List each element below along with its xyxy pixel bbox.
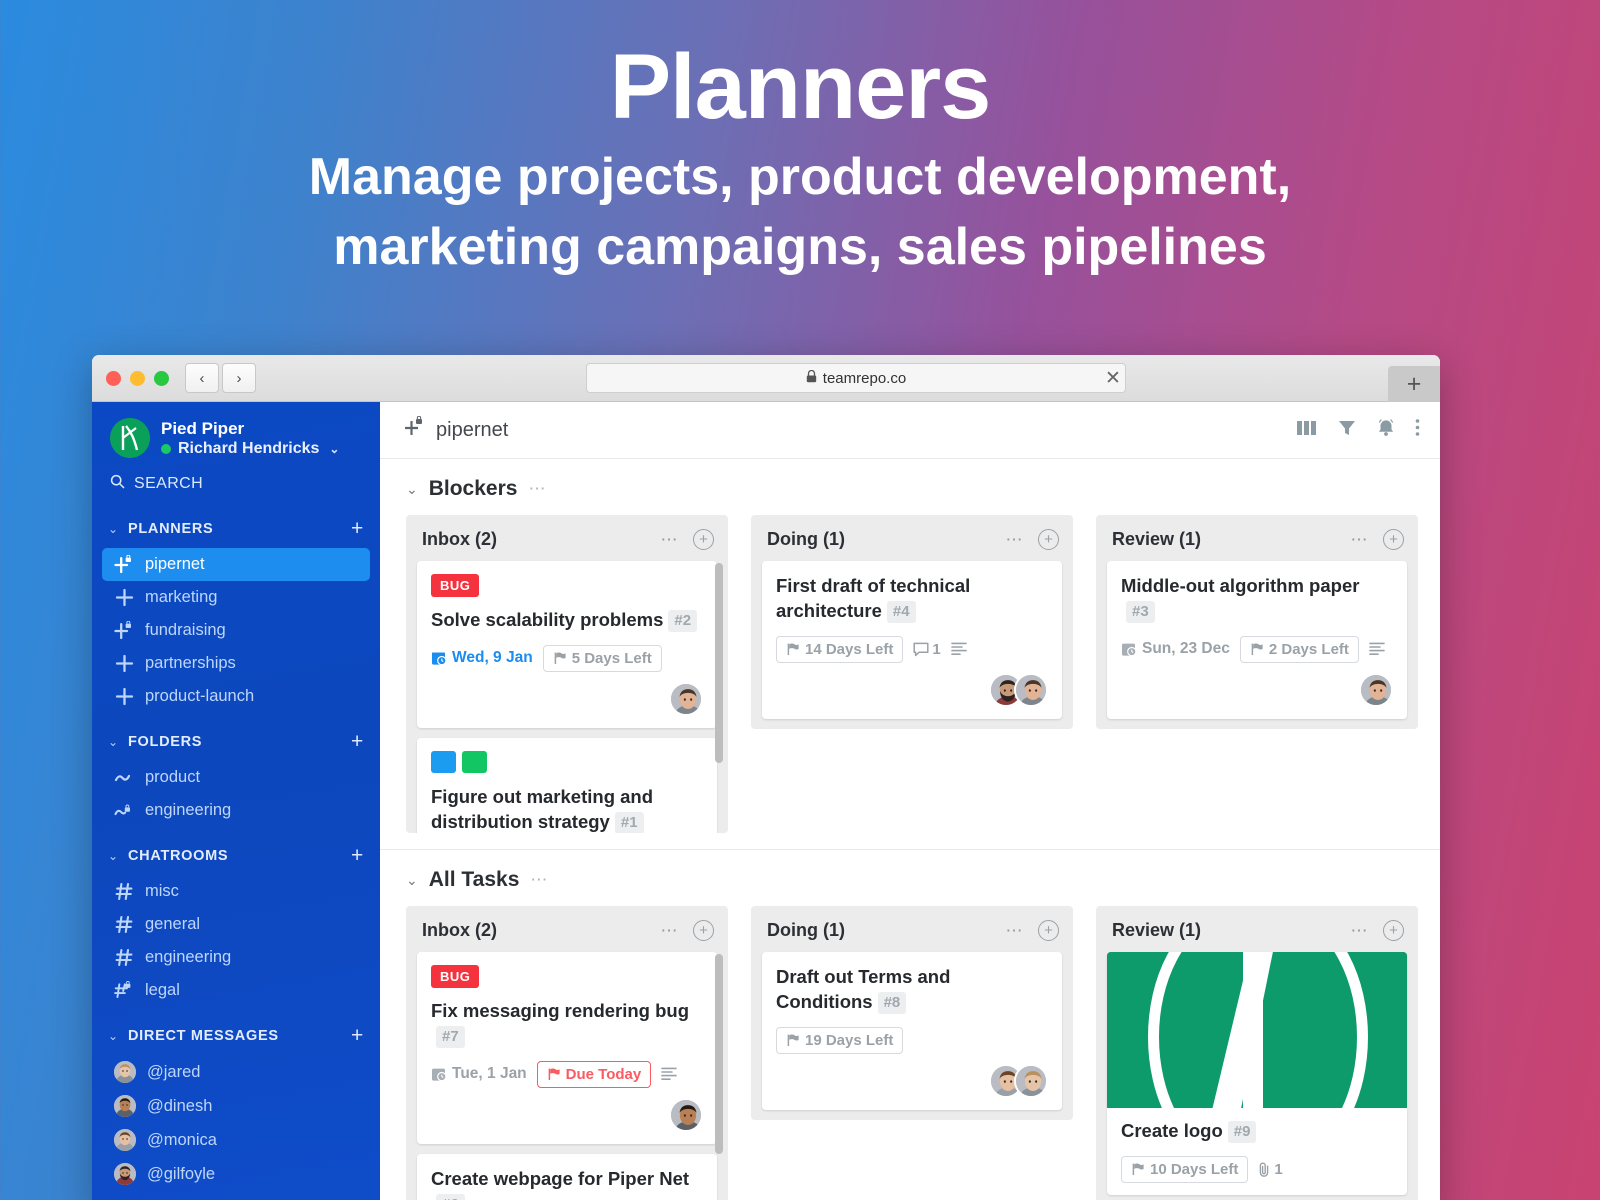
board-column: Doing (1) ⋯ +First draft of technical ar…: [751, 515, 1073, 729]
sidebar-section-folders[interactable]: ⌄FOLDERS+: [92, 713, 380, 761]
sidebar-item-partnerships[interactable]: partnerships: [92, 647, 380, 680]
avatar: [114, 1061, 136, 1083]
section-title: DIRECT MESSAGES: [128, 1028, 279, 1044]
add-card-button[interactable]: +: [1383, 529, 1404, 550]
chevron-down-icon[interactable]: ⌄: [329, 442, 339, 456]
avatar: [114, 1163, 136, 1185]
sidebar-item-marketing[interactable]: marketing: [92, 581, 380, 614]
task-card[interactable]: BUGFix messaging rendering bug#7Tue, 1 J…: [417, 952, 717, 1144]
board-column: Inbox (2) ⋯ +BUGSolve scalability proble…: [406, 515, 728, 833]
sidebar-item-label: misc: [145, 882, 179, 901]
user-name: Richard Hendricks: [178, 440, 319, 458]
planner-lock-icon: [402, 416, 424, 444]
hero-subtitle-line-1: Manage projects, product development,: [0, 142, 1600, 212]
days-left-badge: 14 Days Left: [776, 636, 903, 663]
card-meta: 14 Days Left1: [776, 636, 1048, 663]
card-title: Draft out Terms and Conditions#8: [776, 965, 1048, 1015]
workspace-name: Pied Piper: [161, 418, 339, 439]
board-group-all-tasks: ⌄ All Tasks ⋯Inbox (2) ⋯ +BUGFix messagi…: [380, 850, 1440, 1200]
planner-icon: [114, 654, 134, 673]
column-header: Review (1) ⋯ +: [1096, 906, 1418, 952]
card-meta: 10 Days Left1: [1121, 1156, 1393, 1183]
avatar: [114, 1095, 136, 1117]
card-assignees: [431, 1098, 703, 1132]
sidebar-item-jared[interactable]: @jared: [92, 1055, 380, 1089]
description-icon: [661, 1067, 677, 1081]
column-list: Inbox (2) ⋯ +BUGFix messaging rendering …: [380, 906, 1440, 1200]
card-title-text: First draft of technical architecture: [776, 575, 970, 621]
browser-window: ‹ › teamrepo.co ✕ +: [92, 355, 1440, 1200]
card-meta: Sun, 23 Dec2 Days Left: [1121, 636, 1393, 663]
sidebar-item-engineering[interactable]: engineering: [92, 941, 380, 974]
planner-icon: [114, 588, 134, 607]
group-header[interactable]: ⌄ Blockers ⋯: [380, 459, 1440, 515]
sidebar-item-label: marketing: [145, 588, 217, 607]
card-number: #1: [615, 812, 644, 833]
card-list: Middle-out algorithm paper#3Sun, 23 Dec2…: [1096, 561, 1418, 719]
card-list: Draft out Terms and Conditions#819 Days …: [751, 952, 1073, 1110]
task-card[interactable]: First draft of technical architecture#41…: [762, 561, 1062, 719]
sidebar-item-label: @jared: [147, 1063, 200, 1082]
card-title: Fix messaging rendering bug#7: [431, 999, 703, 1049]
bell-icon[interactable]: [1376, 417, 1396, 443]
pied-piper-logo-icon: [110, 418, 150, 458]
card-meta: Wed, 9 Jan5 Days Left: [431, 645, 703, 672]
days-left-text: 19 Days Left: [805, 1032, 893, 1049]
column-more-icon[interactable]: ⋯: [1006, 921, 1025, 941]
column-more-icon[interactable]: ⋯: [661, 921, 680, 941]
card-title-text: Create logo: [1121, 1120, 1223, 1141]
sidebar-item-product[interactable]: product: [92, 761, 380, 794]
planner-lock-icon: [114, 621, 134, 640]
days-left-badge: 5 Days Left: [543, 645, 662, 672]
planner-icon: [114, 687, 134, 706]
column-header: Doing (1) ⋯ +: [751, 515, 1073, 561]
sidebar-item-label: engineering: [145, 801, 231, 820]
card-list: Create logo#910 Days Left1: [1096, 952, 1418, 1195]
current-user[interactable]: Richard Hendricks ⌄: [161, 440, 339, 458]
attachment-count-text: 1: [1274, 1161, 1282, 1178]
task-card[interactable]: Create logo#910 Days Left1: [1107, 952, 1407, 1195]
description-icon: [1369, 642, 1385, 656]
card-assignees: [776, 673, 1048, 707]
card-number: #9: [1228, 1121, 1257, 1143]
label-swatch[interactable]: [431, 751, 456, 773]
comment-count-text: 1: [932, 641, 940, 658]
card-list: First draft of technical architecture#41…: [751, 561, 1073, 719]
sidebar-item-dinesh[interactable]: @dinesh: [92, 1089, 380, 1123]
board-column: Doing (1) ⋯ +Draft out Terms and Conditi…: [751, 906, 1073, 1120]
chevron-down-icon[interactable]: ⌄: [406, 872, 418, 889]
days-left-text: Due Today: [566, 1066, 642, 1083]
column-scrollbar[interactable]: [715, 954, 723, 1154]
card-meta: 19 Days Left: [776, 1027, 1048, 1054]
sidebar-item-fundraising[interactable]: fundraising: [92, 614, 380, 647]
card-due-date: Tue, 1 Jan: [431, 1065, 527, 1083]
card-title: Solve scalability problems#2: [431, 608, 703, 633]
description-icon: [951, 642, 967, 656]
avatar[interactable]: [669, 682, 703, 716]
card-number: #7: [436, 1026, 465, 1048]
section-title: PLANNERS: [128, 521, 213, 537]
column-title: Inbox (2): [422, 920, 497, 941]
page-title: Planners: [0, 42, 1600, 132]
add-card-button[interactable]: +: [1383, 920, 1404, 941]
hero-banner: Planners Manage projects, product develo…: [0, 0, 1600, 283]
add-folders-button[interactable]: +: [351, 730, 364, 754]
column-header: Inbox (2) ⋯ +: [406, 515, 728, 561]
avatar: [114, 1129, 136, 1151]
sidebar-section-chatrooms[interactable]: ⌄CHATROOMS+: [92, 827, 380, 875]
card-title: Middle-out algorithm paper#3: [1121, 574, 1393, 624]
search-button[interactable]: SEARCH: [92, 458, 380, 500]
task-card[interactable]: Figure out marketing and distribution st…: [417, 738, 717, 833]
sidebar-item-label: fundraising: [145, 621, 226, 640]
group-more-icon[interactable]: ⋯: [530, 870, 548, 890]
avatar[interactable]: [1014, 1064, 1048, 1098]
minimize-window-button[interactable]: [130, 371, 145, 386]
planner-title: pipernet: [402, 416, 508, 444]
card-list: BUGFix messaging rendering bug#7Tue, 1 J…: [406, 952, 728, 1200]
column-header: Inbox (2) ⋯ +: [406, 906, 728, 952]
hash-icon: [114, 915, 134, 934]
chevron-down-icon[interactable]: ⌄: [108, 1029, 128, 1043]
due-date-text: Sun, 23 Dec: [1142, 640, 1230, 658]
board-column: Review (1) ⋯ +Middle-out algorithm paper…: [1096, 515, 1418, 729]
lock-icon: [806, 370, 817, 386]
days-left-badge: 19 Days Left: [776, 1027, 903, 1054]
planner-lock-icon: [114, 555, 134, 574]
board-group-blockers: ⌄ Blockers ⋯Inbox (2) ⋯ +BUGSolve scalab…: [380, 459, 1440, 833]
comment-count: 1: [913, 641, 940, 658]
planner-toolbar: pipernet: [380, 402, 1440, 459]
card-title-text: Solve scalability problems: [431, 609, 663, 630]
sidebar-item-label: pipernet: [145, 555, 205, 574]
chevron-down-icon[interactable]: ⌄: [108, 522, 128, 536]
group-title: Blockers: [429, 477, 518, 501]
address-bar[interactable]: teamrepo.co: [586, 363, 1126, 393]
card-title-text: Create webpage for Piper Net: [431, 1168, 689, 1189]
sidebar-item-label: partnerships: [145, 654, 236, 673]
sidebar-item-pipernet[interactable]: pipernet: [102, 548, 370, 581]
planner-name: pipernet: [436, 419, 508, 442]
hash-icon: [114, 948, 134, 967]
column-header: Doing (1) ⋯ +: [751, 906, 1073, 952]
group-header[interactable]: ⌄ All Tasks ⋯: [380, 850, 1440, 906]
card-title-text: Draft out Terms and Conditions: [776, 966, 950, 1012]
card-assignees: [776, 1064, 1048, 1098]
sidebar-item-label: legal: [145, 981, 180, 1000]
column-scrollbar[interactable]: [715, 563, 723, 763]
board-column: Inbox (2) ⋯ +BUGFix messaging rendering …: [406, 906, 728, 1200]
task-card[interactable]: BUGSolve scalability problems#2Wed, 9 Ja…: [417, 561, 717, 728]
card-number: #3: [1126, 601, 1155, 623]
window-controls[interactable]: [106, 371, 169, 386]
sidebar-item-label: product: [145, 768, 200, 787]
sidebar-item-engineering[interactable]: engineering: [92, 794, 380, 827]
search-label: SEARCH: [134, 475, 203, 493]
add-card-button[interactable]: +: [1038, 920, 1059, 941]
sidebar-section-direct-messages[interactable]: ⌄DIRECT MESSAGES+: [92, 1007, 380, 1055]
card-assignees: [431, 682, 703, 716]
sidebar-item-label: @dinesh: [147, 1097, 212, 1116]
card-due-date: Wed, 9 Jan: [431, 649, 533, 667]
card-image-pied-piper-logo: [1107, 952, 1407, 1108]
status-badge: BUG: [431, 574, 479, 597]
sidebar-item-legal[interactable]: legal: [92, 974, 380, 1007]
card-number: #8: [878, 992, 907, 1014]
sidebar-item-label: product-launch: [145, 687, 254, 706]
days-left-text: 14 Days Left: [805, 641, 893, 658]
new-tab-button[interactable]: +: [1388, 366, 1440, 402]
attachment-count: 1: [1258, 1161, 1282, 1178]
days-left-text: 5 Days Left: [572, 650, 652, 667]
main-content: pipernet ⌄: [380, 402, 1440, 1200]
card-title: Create webpage for Piper Net#6: [431, 1167, 703, 1200]
hash-lock-icon: [114, 981, 134, 1000]
filter-icon[interactable]: [1337, 418, 1357, 443]
hash-icon: [114, 882, 134, 901]
section-title: CHATROOMS: [128, 848, 228, 864]
planner-board: ⌄ Blockers ⋯Inbox (2) ⋯ +BUGSolve scalab…: [380, 459, 1440, 1200]
columns-icon[interactable]: [1296, 419, 1318, 442]
task-card[interactable]: Draft out Terms and Conditions#819 Days …: [762, 952, 1062, 1110]
group-more-icon[interactable]: ⋯: [528, 479, 546, 499]
add-direct-messages-button[interactable]: +: [351, 1024, 364, 1048]
sidebar-item-misc[interactable]: misc: [92, 875, 380, 908]
sidebar-item-product-launch[interactable]: product-launch: [92, 680, 380, 713]
days-left-badge: 2 Days Left: [1240, 636, 1359, 663]
days-left-badge: 10 Days Left: [1121, 1156, 1248, 1183]
workspace-header[interactable]: Pied Piper Richard Hendricks ⌄: [92, 418, 380, 458]
close-window-button[interactable]: [106, 371, 121, 386]
add-card-button[interactable]: +: [693, 920, 714, 941]
add-card-button[interactable]: +: [1038, 529, 1059, 550]
sidebar-item-monica[interactable]: @monica: [92, 1123, 380, 1157]
label-swatches: [431, 751, 703, 773]
hero-subtitle-line-2: marketing campaigns, sales pipelines: [0, 212, 1600, 282]
chevron-down-icon[interactable]: ⌄: [108, 735, 128, 749]
card-title: First draft of technical architecture#4: [776, 574, 1048, 624]
maximize-window-button[interactable]: [154, 371, 169, 386]
online-status-icon: [161, 444, 171, 454]
avatar[interactable]: [669, 1098, 703, 1132]
status-badge: BUG: [431, 965, 479, 988]
days-left-text: 10 Days Left: [1150, 1161, 1238, 1178]
label-swatch[interactable]: [462, 751, 487, 773]
card-number: #6: [436, 1194, 465, 1200]
avatar[interactable]: [1014, 673, 1048, 707]
card-title: Figure out marketing and distribution st…: [431, 785, 703, 833]
card-title-text: Fix messaging rendering bug: [431, 1000, 689, 1021]
section-title: FOLDERS: [128, 734, 202, 750]
due-date-text: Wed, 9 Jan: [452, 649, 533, 667]
search-icon: [110, 474, 125, 494]
sidebar-item-general[interactable]: general: [92, 908, 380, 941]
card-list: BUGSolve scalability problems#2Wed, 9 Ja…: [406, 561, 728, 833]
board-column: Review (1) ⋯ + Create logo#910 Days Left…: [1096, 906, 1418, 1200]
chevron-down-icon[interactable]: ⌄: [406, 481, 418, 498]
due-date-text: Tue, 1 Jan: [452, 1065, 527, 1083]
card-number: #2: [668, 610, 697, 632]
column-more-icon[interactable]: ⋯: [1006, 530, 1025, 550]
card-due-date: Sun, 23 Dec: [1121, 640, 1230, 658]
tilde-lock-icon: [114, 803, 134, 819]
sidebar-section-planners[interactable]: ⌄PLANNERS+: [92, 500, 380, 548]
browser-chrome: ‹ › teamrepo.co ✕ +: [92, 355, 1440, 402]
sidebar-item-label: @gilfoyle: [147, 1165, 215, 1184]
column-more-icon[interactable]: ⋯: [1351, 530, 1370, 550]
card-assignees: [1121, 673, 1393, 707]
sidebar-item-label: @monica: [147, 1131, 217, 1150]
days-left-badge: Due Today: [537, 1061, 652, 1088]
column-title: Review (1): [1112, 529, 1201, 550]
sidebar-item-label: general: [145, 915, 200, 934]
add-chatrooms-button[interactable]: +: [351, 844, 364, 868]
days-left-text: 2 Days Left: [1269, 641, 1349, 658]
more-vertical-icon[interactable]: [1415, 418, 1420, 442]
avatar[interactable]: [1359, 673, 1393, 707]
sidebar-item-label: engineering: [145, 948, 231, 967]
card-meta: Tue, 1 JanDue Today: [431, 1061, 703, 1088]
add-planners-button[interactable]: +: [351, 517, 364, 541]
card-title: Create logo#9: [1121, 1119, 1393, 1144]
url-text: teamrepo.co: [823, 370, 906, 387]
sidebar-item-gilfoyle[interactable]: @gilfoyle: [92, 1157, 380, 1191]
column-more-icon[interactable]: ⋯: [661, 530, 680, 550]
task-card[interactable]: Create webpage for Piper Net#612 Days Le…: [417, 1154, 717, 1200]
column-title: Review (1): [1112, 920, 1201, 941]
column-list: Inbox (2) ⋯ +BUGSolve scalability proble…: [380, 515, 1440, 833]
group-title: All Tasks: [429, 868, 520, 892]
column-more-icon[interactable]: ⋯: [1351, 921, 1370, 941]
card-number: #4: [887, 601, 916, 623]
forward-button[interactable]: ›: [222, 363, 256, 393]
column-title: Inbox (2): [422, 529, 497, 550]
card-title-text: Middle-out algorithm paper: [1121, 575, 1359, 596]
back-button[interactable]: ‹: [185, 363, 219, 393]
tilde-icon: [114, 771, 134, 785]
sidebar: Pied Piper Richard Hendricks ⌄ SEARCH ⌄P…: [92, 402, 380, 1200]
chevron-down-icon[interactable]: ⌄: [108, 849, 128, 863]
column-header: Review (1) ⋯ +: [1096, 515, 1418, 561]
column-title: Doing (1): [767, 920, 845, 941]
add-card-button[interactable]: +: [693, 529, 714, 550]
task-card[interactable]: Middle-out algorithm paper#3Sun, 23 Dec2…: [1107, 561, 1407, 719]
column-title: Doing (1): [767, 529, 845, 550]
close-tab-button[interactable]: ✕: [1102, 367, 1124, 389]
